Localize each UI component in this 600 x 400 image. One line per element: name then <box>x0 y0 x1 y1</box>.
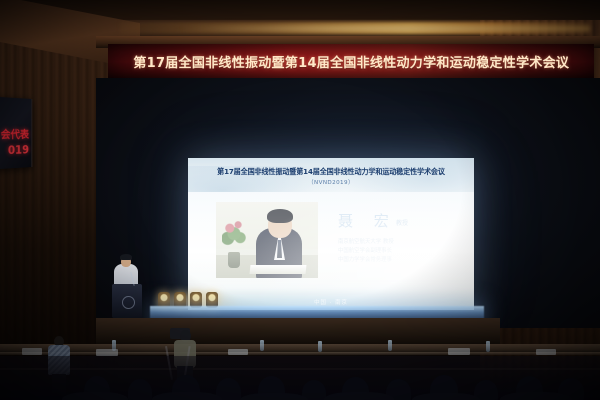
portrait-flowers <box>222 220 248 254</box>
desk-paper <box>228 349 248 355</box>
slide-affiliation-line-2: 中国航空学会副理事长 <box>338 247 392 256</box>
desk-paper <box>96 349 118 356</box>
water-bottle <box>260 340 264 351</box>
auditorium-photo: 第17届全国非线性振动暨第14届全国非线性动力学和运动稳定性学术会议 会代表 0… <box>0 0 600 400</box>
audience-head <box>128 379 152 400</box>
conference-banner: 第17届全国非线性振动暨第14届全国非线性动力学和运动稳定性学术会议 <box>108 44 594 78</box>
balcony-rail-ledge <box>0 344 600 352</box>
slide-speaker-name: 聂 宏 <box>338 210 397 231</box>
audience-shoulders <box>412 393 480 400</box>
side-banner-line-1: 会代表 <box>1 126 29 142</box>
audience-shoulders <box>62 392 128 400</box>
slide-affiliation-line-1: 南京航空航天大学 教授 <box>338 238 394 247</box>
side-banner-line-2: 019 <box>8 143 29 157</box>
podium <box>112 284 142 318</box>
ceiling-light-highlight <box>180 26 590 31</box>
water-bottle <box>318 341 322 352</box>
desk-paper <box>22 348 42 355</box>
audience-shoulders <box>500 392 572 400</box>
audience-shoulders <box>324 392 394 400</box>
speaker-portrait-photo <box>216 202 318 278</box>
podium-emblem <box>122 296 135 309</box>
side-banner: 会代表 019 <box>0 96 32 170</box>
water-bottle <box>486 341 490 352</box>
audience-shoulders <box>240 393 308 400</box>
slide-speaker-role: 教授 <box>396 218 408 227</box>
stage-front-edge <box>96 318 500 344</box>
slide-affiliation-line-3: 中国力学学会常务理事 <box>338 256 392 265</box>
water-bottle <box>388 340 392 351</box>
conference-banner-text: 第17届全国非线性振动暨第14届全国非线性动力学和运动稳定性学术会议 <box>133 52 569 71</box>
podium-speaker-hair <box>120 254 132 260</box>
desk-paper <box>448 348 470 355</box>
slide-subtitle: （NVND2019） <box>188 178 474 186</box>
audience-shoulders <box>152 392 222 400</box>
slide-title: 第17届全国非线性振动暨第14届全国非线性动力学和运动稳定性学术会议 <box>194 166 469 177</box>
desk-paper <box>536 349 556 355</box>
slide-footer-location: 中国 · 南京 <box>188 298 474 306</box>
balcony-rail-bar <box>0 352 600 355</box>
portrait-vase <box>228 252 240 268</box>
portrait-book <box>250 265 307 274</box>
portrait-hair <box>267 209 293 223</box>
